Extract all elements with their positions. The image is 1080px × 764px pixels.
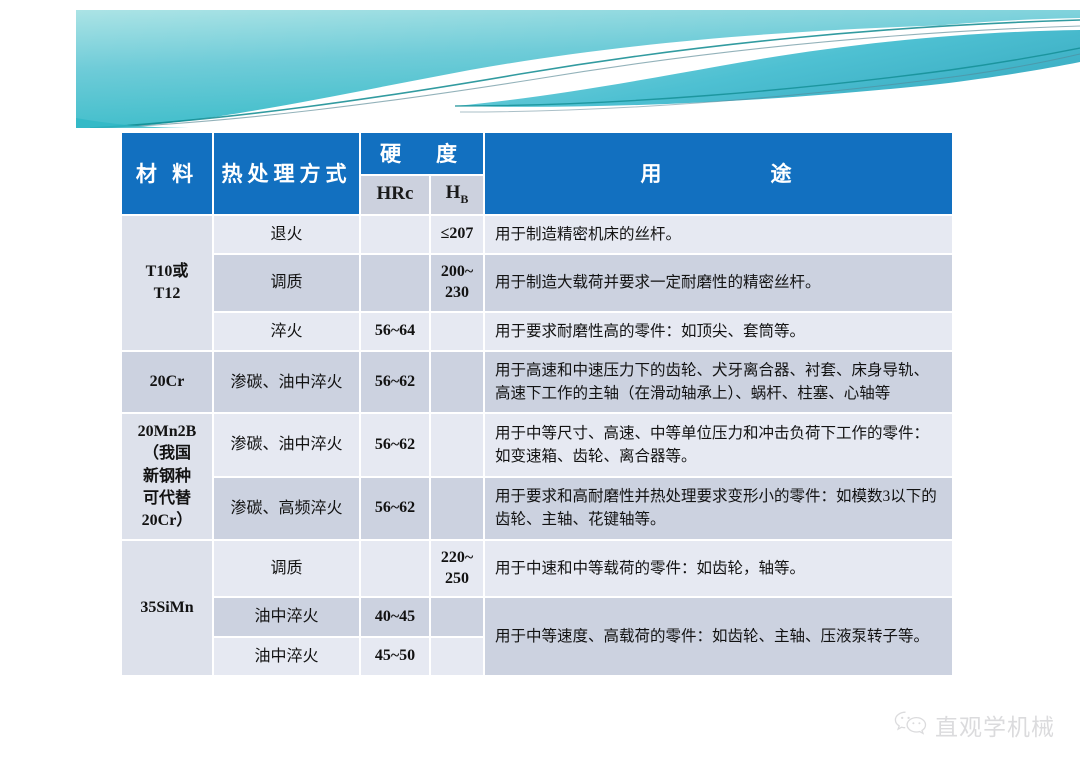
cell-usage: 用于要求耐磨性高的零件：如顶尖、套筒等。 [485,313,952,350]
cell-hb [431,313,483,350]
cell-treatment: 渗碳、高频淬火 [214,478,359,539]
table-row: 渗碳、高频淬火 56~62 用于要求和高耐磨性并热处理要求变形小的零件：如模数3… [122,478,952,539]
cell-hrc: 56~62 [361,352,429,413]
cell-hb [431,638,483,675]
decorative-wave-banner [0,0,1080,128]
table-header-row-1: 材 料 热处理方式 硬 度 用 途 [122,133,952,174]
wave-graphic [0,0,1080,128]
cell-treatment: 油中淬火 [214,638,359,675]
cell-hb [431,352,483,413]
cell-hrc: 40~45 [361,598,429,635]
cell-hrc: 56~62 [361,414,429,475]
watermark-text: 直观学机械 [935,708,1055,742]
cell-treatment: 退火 [214,216,359,253]
cell-hrc: 45~50 [361,638,429,675]
cell-material: T10或T12 [122,216,212,350]
column-header-material: 材 料 [122,133,212,214]
table-row: 油中淬火 40~45 用于中等速度、高载荷的零件：如齿轮、主轴、压液泵转子等。 [122,598,952,635]
cell-material: 20Cr [122,352,212,413]
cell-material: 35SiMn [122,541,212,675]
cell-hb: 200~230 [431,255,483,311]
cell-usage: 用于制造大载荷并要求一定耐磨性的精密丝杆。 [485,255,952,311]
cell-usage: 用于中等尺寸、高速、中等单位压力和冲击负荷下工作的零件：如变速箱、齿轮、离合器等… [485,414,952,475]
wechat-icon [894,710,928,741]
table-row: 20Mn2B（我国新钢种可代替20Cr） 渗碳、油中淬火 56~62 用于中等尺… [122,414,952,475]
table-row: 淬火 56~64 用于要求耐磨性高的零件：如顶尖、套筒等。 [122,313,952,350]
material-heat-treatment-table: 材 料 热处理方式 硬 度 用 途 HRc HB T10或T12 退火 ≤207… [120,131,954,677]
cell-hb [431,598,483,635]
cell-hrc [361,255,429,311]
cell-treatment: 淬火 [214,313,359,350]
column-header-hrc: HRc [361,176,429,214]
cell-hrc: 56~64 [361,313,429,350]
cell-hrc: 56~62 [361,478,429,539]
cell-hrc [361,541,429,597]
cell-hb [431,478,483,539]
watermark: 直观学机械 [894,708,1055,742]
cell-usage: 用于中等速度、高载荷的零件：如齿轮、主轴、压液泵转子等。 [485,598,952,674]
cell-treatment: 油中淬火 [214,598,359,635]
table-body: T10或T12 退火 ≤207 用于制造精密机床的丝杆。 调质 200~230 … [122,216,952,675]
table-row: T10或T12 退火 ≤207 用于制造精密机床的丝杆。 [122,216,952,253]
column-header-hb: HB [431,176,483,214]
hb-main: H [446,182,461,203]
cell-usage: 用于制造精密机床的丝杆。 [485,216,952,253]
hb-subscript: B [460,192,468,206]
column-header-treatment: 热处理方式 [214,133,359,214]
table-row: 35SiMn 调质 220~250 用于中速和中等载荷的零件：如齿轮，轴等。 [122,541,952,597]
cell-treatment: 渗碳、油中淬火 [214,352,359,413]
cell-hb [431,414,483,475]
hardness-table-container: 材 料 热处理方式 硬 度 用 途 HRc HB T10或T12 退火 ≤207… [120,131,950,677]
cell-hb: 220~250 [431,541,483,597]
cell-usage: 用于中速和中等载荷的零件：如齿轮，轴等。 [485,541,952,597]
table-row: 调质 200~230 用于制造大载荷并要求一定耐磨性的精密丝杆。 [122,255,952,311]
column-header-hardness: 硬 度 [361,133,483,174]
cell-treatment: 调质 [214,541,359,597]
cell-usage: 用于要求和高耐磨性并热处理要求变形小的零件：如模数3以下的齿轮、主轴、花键轴等。 [485,478,952,539]
cell-hrc [361,216,429,253]
cell-hb: ≤207 [431,216,483,253]
column-header-usage: 用 途 [485,133,952,214]
cell-usage: 用于高速和中速压力下的齿轮、犬牙离合器、衬套、床身导轨、高速下工作的主轴（在滑动… [485,352,952,413]
cell-material: 20Mn2B（我国新钢种可代替20Cr） [122,414,212,538]
cell-treatment: 调质 [214,255,359,311]
table-row: 20Cr 渗碳、油中淬火 56~62 用于高速和中速压力下的齿轮、犬牙离合器、衬… [122,352,952,413]
cell-treatment: 渗碳、油中淬火 [214,414,359,475]
